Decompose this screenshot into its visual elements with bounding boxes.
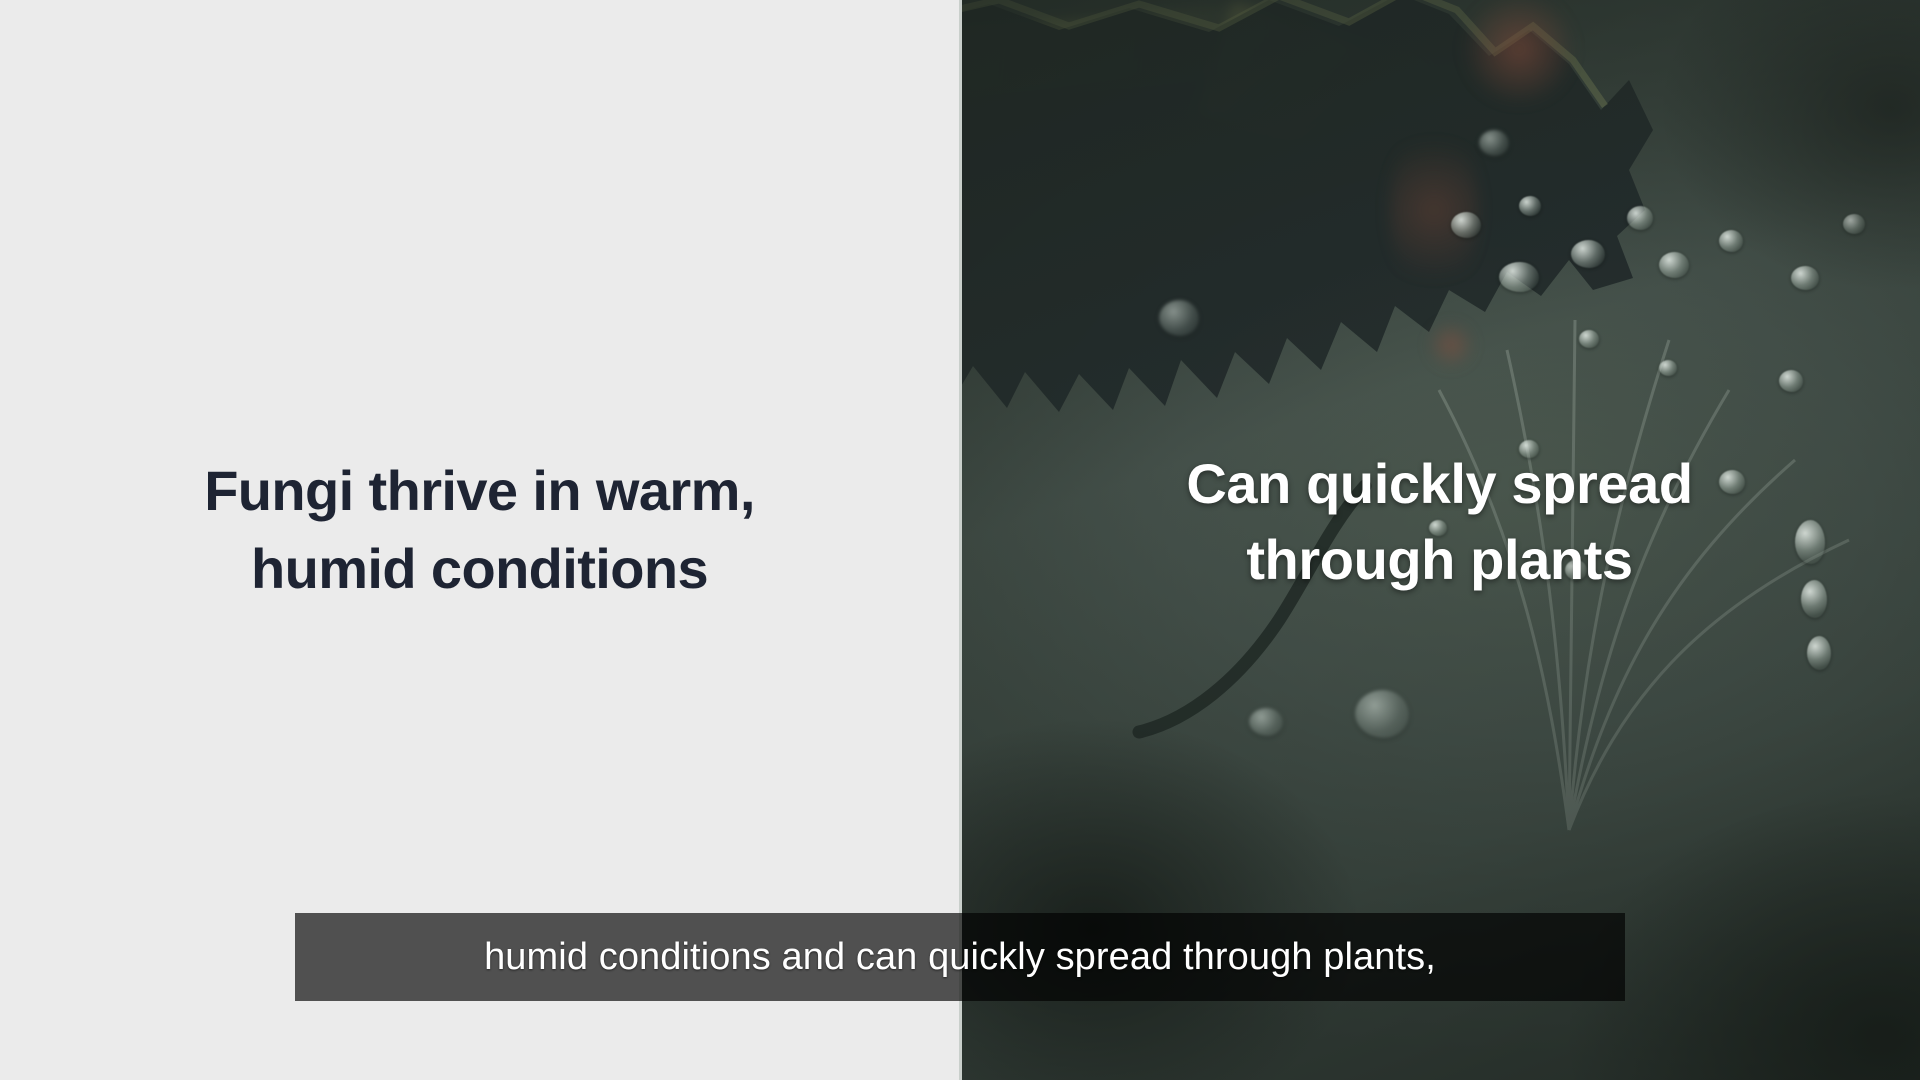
right-headline-line-2: through plants [959,522,1920,598]
caption-text: humid conditions and can quickly spread … [484,936,1436,979]
left-headline: Fungi thrive in warm, humid conditions [0,452,959,608]
left-headline-line-2: humid conditions [0,530,959,608]
right-headline: Can quickly spread through plants [959,446,1920,598]
caption-bar: humid conditions and can quickly spread … [295,913,1625,1001]
video-frame: Fungi thrive in warm, humid conditions [0,0,1920,1080]
right-headline-line-1: Can quickly spread [959,446,1920,522]
left-headline-line-1: Fungi thrive in warm, [0,452,959,530]
